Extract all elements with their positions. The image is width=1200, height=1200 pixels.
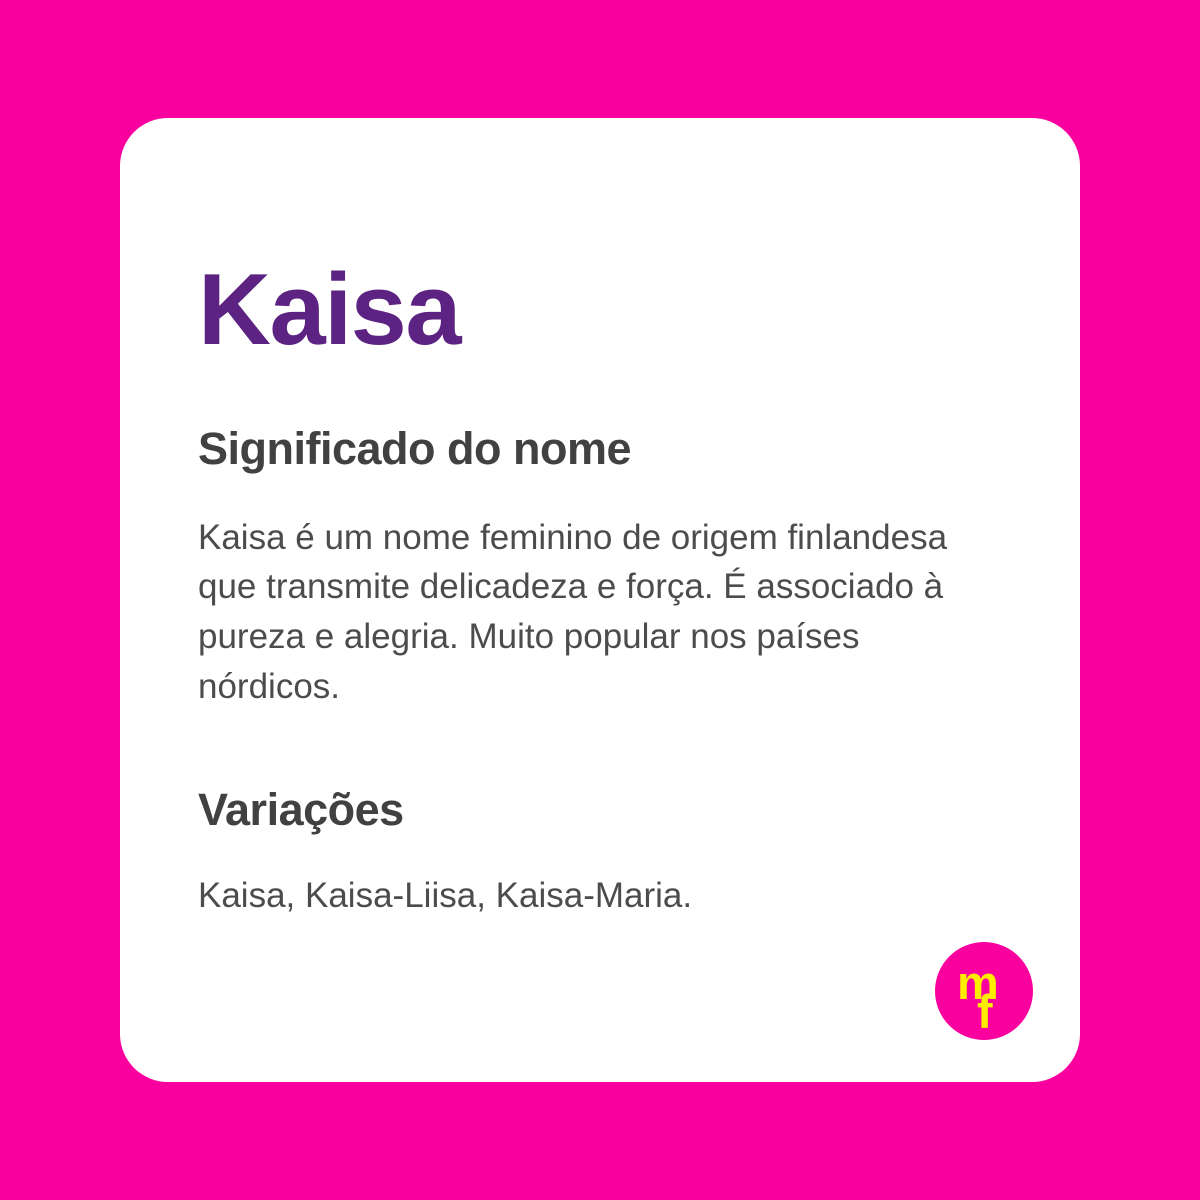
page-title: Kaisa [198, 260, 1010, 361]
section-heading-meaning: Significado do nome [198, 423, 1010, 475]
card-content: Kaisa Significado do nome Kaisa é um nom… [198, 260, 1010, 921]
brand-logo-badge: m f [935, 942, 1033, 1040]
logo-letter-f: f [977, 988, 993, 1035]
section-text-meaning: Kaisa é um nome feminino de origem finla… [198, 513, 1004, 712]
section-text-variations: Kaisa, Kaisa-Liisa, Kaisa-Maria. [198, 871, 1004, 921]
poster-canvas: Kaisa Significado do nome Kaisa é um nom… [0, 0, 1200, 1200]
name-info-card: Kaisa Significado do nome Kaisa é um nom… [120, 118, 1080, 1082]
section-heading-variations: Variações [198, 784, 1010, 836]
